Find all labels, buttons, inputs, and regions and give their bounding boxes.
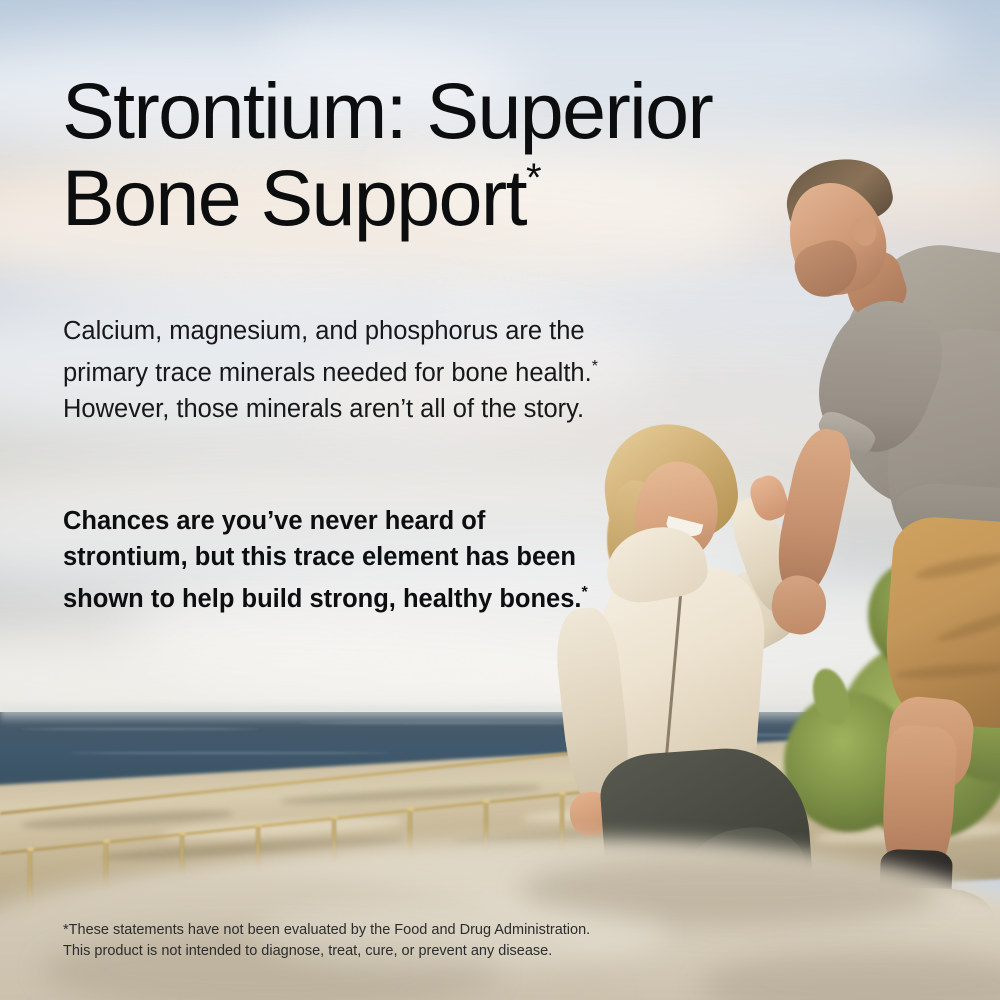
headline-line-1: Strontium: Superior: [62, 66, 712, 155]
page-title: Strontium: SuperiorBone Support*: [62, 68, 932, 242]
intro-paragraph: Calcium, magnesium, and phosphorus are t…: [63, 313, 603, 427]
disclaimer-line-2: This product is not intended to diagnose…: [63, 943, 552, 959]
intro-text-part-1: Calcium, magnesium, and phosphorus are t…: [63, 317, 592, 387]
intro-text-part-2: However, those minerals aren’t all of th…: [63, 395, 584, 423]
disclaimer-line-1: *These statements have not been evaluate…: [63, 922, 590, 938]
highlight-paragraph: Chances are you’ve never heard of stront…: [63, 503, 603, 617]
highlight-text: Chances are you’ve never heard of stront…: [63, 507, 582, 613]
advertisement-canvas: Strontium: SuperiorBone Support* Calcium…: [0, 0, 1000, 1000]
intro-asterisk: *: [592, 358, 598, 375]
highlight-asterisk: *: [582, 584, 588, 601]
ad-copy: Strontium: SuperiorBone Support* Calcium…: [0, 0, 1000, 1000]
fda-disclaimer: *These statements have not been evaluate…: [63, 920, 663, 962]
headline-asterisk: *: [526, 156, 542, 200]
headline-line-2: Bone Support: [62, 153, 526, 242]
